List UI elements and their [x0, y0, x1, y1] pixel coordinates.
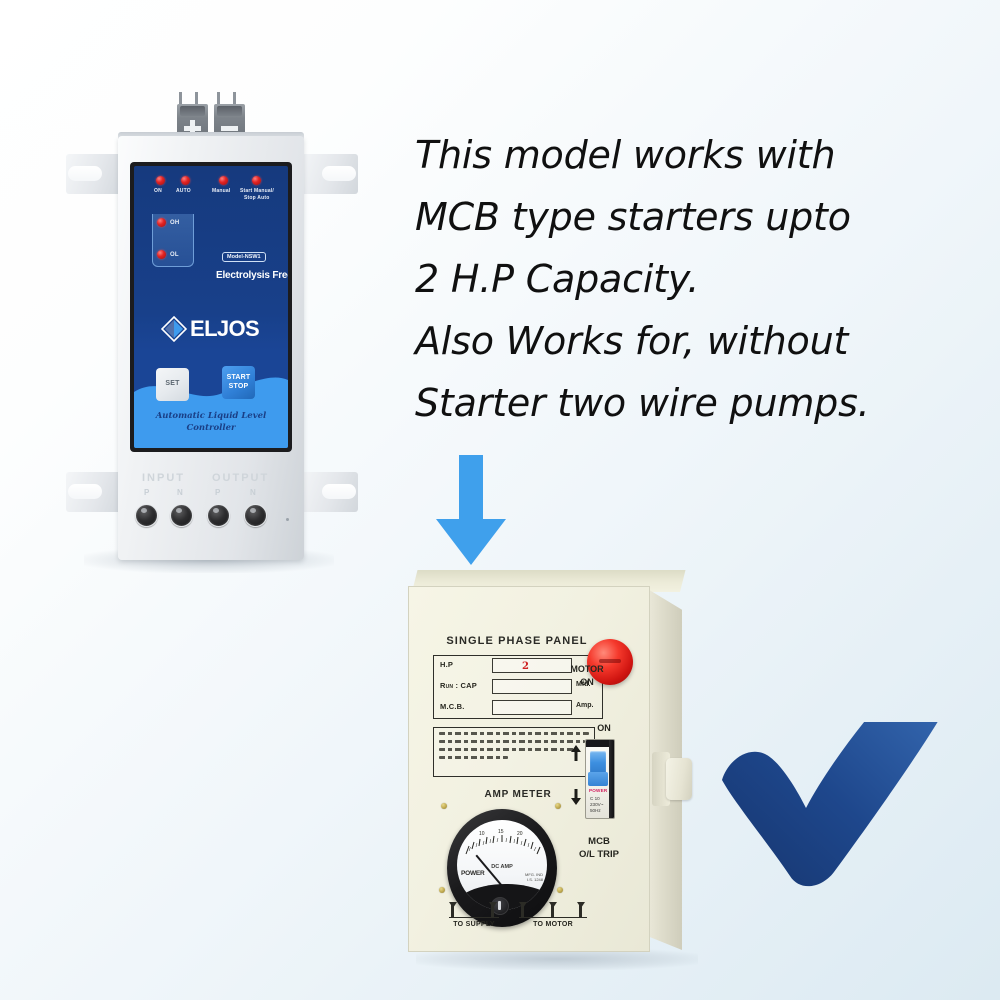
mcb-trip-label: MCB O/L TRIP [567, 835, 631, 861]
output-n-label: N [250, 488, 256, 497]
mcb-on-label: ON [581, 723, 627, 733]
brand-lockup: ELJOS [161, 316, 259, 342]
svg-text:20: 20 [517, 831, 523, 837]
led-label-ol: OL [170, 252, 179, 258]
led-label-auto: AUTO [176, 188, 191, 194]
output-terminal-label: OUTPUT [212, 472, 269, 484]
eljos-diamond-logo-icon [161, 316, 187, 342]
led-oh [157, 218, 166, 227]
terminal-screw-input-p[interactable] [135, 504, 158, 527]
start-label: START [222, 374, 255, 381]
controller-bezel: ON AUTO Manual Start Manual/ Stop Auto O… [130, 162, 292, 452]
stop-label: STOP [222, 383, 255, 390]
led-label-start-manual: Start Manual/ [240, 188, 274, 194]
to-supply-label: TO SUPPLY [445, 921, 503, 928]
motor-terminal-group: TO MOTOR [515, 903, 591, 937]
single-phase-panel-box: SINGLE PHASE PANEL H.P 2 Run : CAP Mfd. … [408, 570, 708, 970]
spec-label-hp: H.P [440, 660, 453, 669]
led-label-manual: Manual [212, 188, 230, 194]
controller-caption: Automatic Liquid Level Controller [134, 410, 288, 434]
mcb-trip-line1: MCB [567, 835, 631, 848]
svg-text:15: 15 [498, 829, 504, 835]
mcb-brand-label: POWER [589, 788, 607, 793]
spec-field-mcb[interactable] [492, 700, 572, 715]
arrow-down-icon [571, 789, 581, 805]
status-pinhole [286, 518, 289, 521]
spec-label-mcb: M.C.B. [440, 702, 465, 711]
check-mark-icon [718, 722, 958, 932]
input-terminal-label: INPUT [142, 472, 185, 484]
led-start-manual-stop-auto [252, 176, 261, 185]
led-label-stop-auto: Stop Auto [244, 195, 270, 201]
brand-name: ELJOS [190, 316, 259, 342]
input-n-label: N [177, 488, 183, 497]
mcb-side-rail [609, 740, 614, 818]
mounting-tab-top-right [300, 154, 358, 194]
motor-label-line1: MOTOR [559, 663, 615, 676]
terminal-screw-input-n[interactable] [170, 504, 193, 527]
mcb-trip-line2: O/L TRIP [567, 848, 631, 861]
input-p-label: P [144, 488, 149, 497]
terminal-screw-output-n[interactable] [244, 504, 267, 527]
svg-text:10: 10 [479, 831, 485, 837]
terminal-screw-output-p[interactable] [207, 504, 230, 527]
panel-door-latch[interactable] [666, 758, 692, 800]
ammeter-unit-label: DC AMP [457, 864, 547, 870]
spec-row-mcb: M.C.B. Amp. [434, 698, 602, 718]
promo-line-4: Also Works for, without [415, 310, 915, 372]
motor-on-label: MOTOR ON [559, 663, 615, 689]
set-button-label: SET [156, 380, 189, 387]
panel-screw-top-left [441, 803, 447, 809]
promo-line-3: 2 H.P Capacity. [415, 248, 915, 310]
liquid-level-controller-device: ON AUTO Manual Start Manual/ Stop Auto O… [60, 92, 360, 562]
mcb-toggle-base [588, 772, 608, 786]
output-p-label: P [215, 488, 220, 497]
set-button[interactable]: SET [156, 368, 189, 401]
supply-terminal-group: TO SUPPLY [445, 903, 503, 937]
caption-line-2: Controller [134, 422, 288, 434]
motor-label-line2: ON [559, 676, 615, 689]
to-motor-label: TO MOTOR [515, 921, 591, 928]
model-number-badge: Model-NSW1 [222, 252, 266, 262]
mounting-tab-top-left [66, 154, 124, 194]
arrow-up-icon [571, 745, 581, 761]
ammeter-mfg-label: MFG. IND I.S. 1248 [525, 872, 543, 882]
spec-value-hp: 2 [522, 661, 529, 672]
led-label-on: ON [154, 188, 162, 194]
spec-unit-mcb: Amp. [576, 702, 594, 709]
down-arrow-icon [428, 455, 514, 565]
mounting-tab-bottom-right [300, 472, 358, 512]
controller-faceplate: ON AUTO Manual Start Manual/ Stop Auto O… [134, 166, 288, 448]
mcb-breaker[interactable]: POWER C 10 230V~ 50Hz [585, 739, 615, 819]
note-text-line [439, 740, 585, 743]
electrolysis-free-text: Electrolysis Free [216, 270, 288, 281]
note-text-line [439, 748, 577, 751]
panel-screw-bottom-left [439, 887, 445, 893]
note-text-line [439, 732, 589, 735]
led-on [156, 176, 165, 185]
infographic-canvas: This model works with MCB type starters … [0, 0, 1000, 1000]
led-ol [157, 250, 166, 259]
led-auto [181, 176, 190, 185]
caption-line-1: Automatic Liquid Level [134, 410, 288, 422]
led-manual [219, 176, 228, 185]
mcb-rating-label: C 10 230V~ 50Hz [590, 796, 603, 814]
promo-line-2: MCB type starters upto [415, 186, 915, 248]
note-text-line [439, 756, 508, 759]
promo-text-block: This model works with MCB type starters … [415, 124, 915, 434]
led-label-oh: OH [170, 220, 179, 226]
panel-screw-bottom-right [557, 887, 563, 893]
panel-front-face: SINGLE PHASE PANEL H.P 2 Run : CAP Mfd. … [408, 586, 650, 952]
promo-line-1: This model works with [415, 124, 915, 186]
panel-screw-top-right [555, 803, 561, 809]
mcb-rating-line3: 50Hz [590, 808, 603, 814]
spec-label-runcap: Run : CAP [440, 681, 477, 690]
promo-line-5: Starter two wire pumps. [415, 372, 915, 434]
start-stop-button[interactable]: START STOP [222, 366, 255, 399]
ammeter-brand: POWER [461, 870, 485, 877]
mounting-tab-bottom-left [66, 472, 124, 512]
ammeter-mfg-line2: I.S. 1248 [525, 877, 543, 882]
